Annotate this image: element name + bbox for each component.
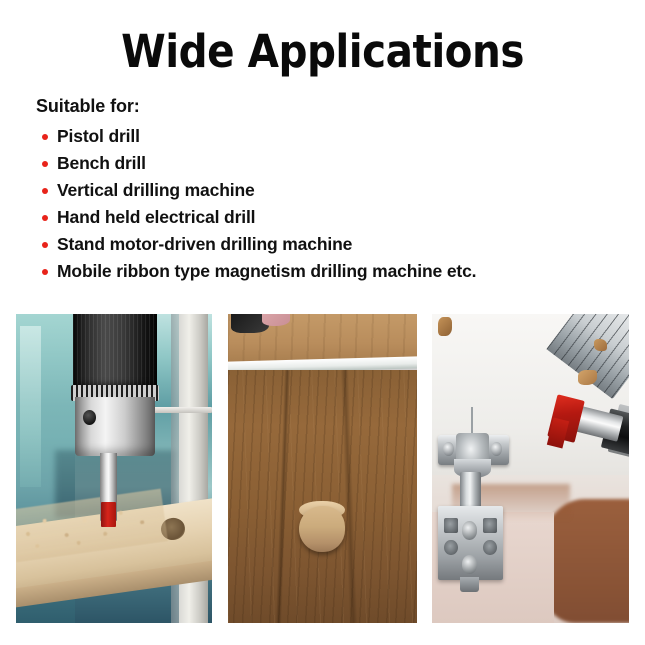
applications-list: Pistol drill Bench drill Vertical drilli…: [36, 123, 616, 285]
mounting-plate-screw: [462, 521, 478, 540]
list-item: Stand motor-driven drilling machine: [36, 231, 616, 258]
mounting-plate-hole: [444, 518, 458, 533]
list-lead-in: Suitable for:: [36, 95, 616, 117]
bullet-dot-icon: [42, 215, 48, 221]
list-item-label: Pistol drill: [57, 126, 140, 146]
drill-chuck-body-black: [73, 314, 157, 388]
list-item: Bench drill: [36, 150, 616, 177]
hinge-screw: [491, 442, 502, 456]
list-item: Vertical drilling machine: [36, 177, 616, 204]
hinge-screw: [443, 442, 454, 456]
photo-strip: [16, 314, 629, 623]
photo-wood-panel-bored-hinge-cup-hole: [228, 314, 417, 623]
list-item: Mobile ribbon type magnetism drilling ma…: [36, 258, 616, 285]
bullet-dot-icon: [42, 134, 48, 140]
list-item-label: Mobile ribbon type magnetism drilling ma…: [57, 261, 476, 281]
page-title: Wide Applications: [0, 26, 645, 78]
glass-highlight: [20, 326, 42, 487]
bullet-dot-icon: [42, 188, 48, 194]
list-item: Pistol drill: [36, 123, 616, 150]
panel-wood-grain: [228, 370, 417, 623]
mounting-plate-hole: [444, 540, 458, 555]
mounting-plate-hole: [483, 518, 497, 533]
drill-bit-red-cutter: [101, 502, 116, 527]
list-item-label: Vertical drilling machine: [57, 180, 255, 200]
mounting-plate-tip: [460, 577, 480, 592]
mounting-plate-screw: [462, 555, 478, 574]
bullet-dot-icon: [42, 242, 48, 248]
mounting-plate-hole: [483, 540, 497, 555]
bullet-dot-icon: [42, 269, 48, 275]
list-item: Hand held electrical drill: [36, 204, 616, 231]
wood-chip: [438, 317, 452, 336]
list-item-label: Bench drill: [57, 153, 146, 173]
wide-applications-infographic: Wide Applications Suitable for: Pistol d…: [0, 0, 645, 645]
bullet-dot-icon: [42, 161, 48, 167]
list-item-label: Stand motor-driven drilling machine: [57, 234, 352, 254]
wood-chip: [594, 339, 608, 351]
photo-installed-concealed-hinge-and-bit: [432, 314, 629, 623]
photo-bench-drill-press-drilling-board: [16, 314, 212, 623]
drill-chuck-chrome-sleeve: [75, 397, 155, 456]
applications-list-block: Suitable for: Pistol drill Bench drill V…: [36, 95, 616, 285]
list-item-label: Hand held electrical drill: [57, 207, 255, 227]
chuck-key-bar: [153, 407, 212, 414]
hinge-cup-hole: [299, 506, 344, 552]
